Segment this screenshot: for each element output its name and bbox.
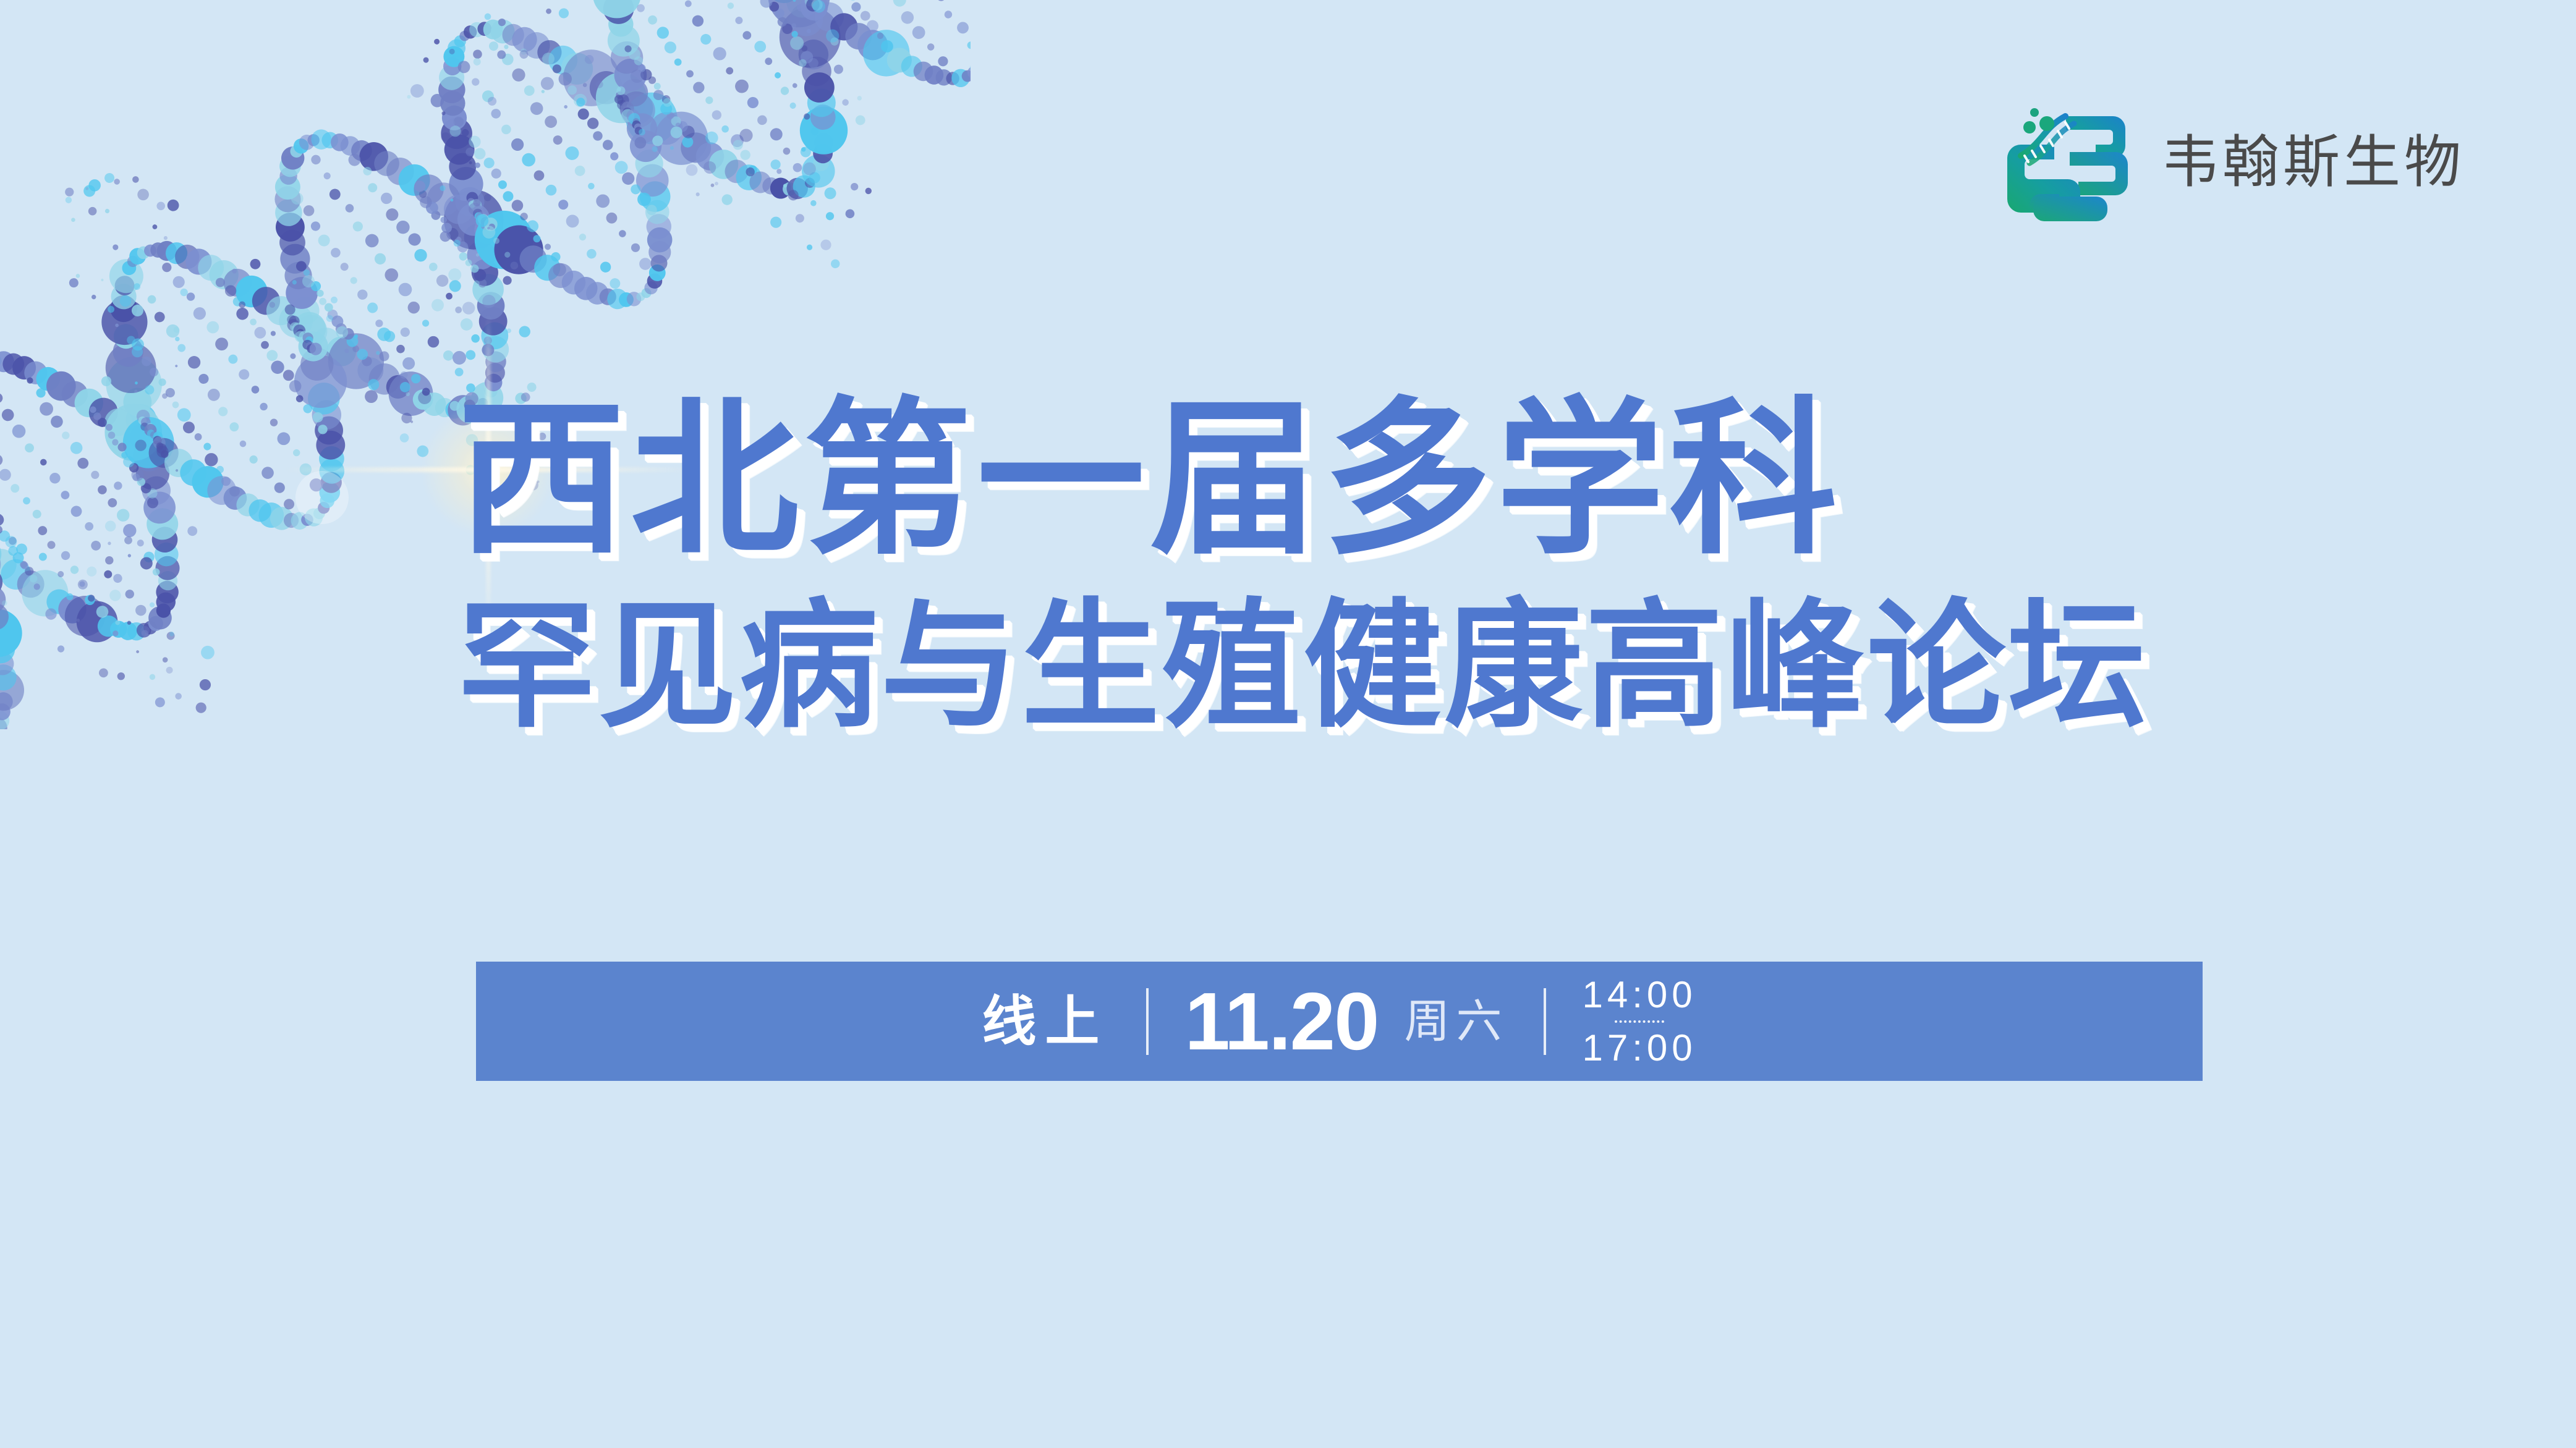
event-info-inner: 线上 11.20 周六 14:00 17:00 [982, 962, 1696, 1081]
divider-2 [1544, 988, 1546, 1055]
event-time-end: 17:00 [1582, 1029, 1696, 1067]
title-line-1: 西北第一届多学科 [457, 396, 2238, 564]
event-time-range: 14:00 17:00 [1582, 976, 1696, 1067]
event-info-bar: 线上 11.20 周六 14:00 17:00 [476, 962, 2203, 1081]
title-line-2: 罕见病与生殖健康高峰论坛 [457, 597, 2238, 735]
dna-molecule-logo-icon [1985, 99, 2140, 226]
brand-logo: 韦翰斯生物 [1985, 99, 2465, 226]
divider-1 [1146, 988, 1149, 1055]
page-title: 西北第一届多学科 罕见病与生殖健康高峰论坛 [457, 396, 2238, 735]
event-weekday: 周六 [1404, 999, 1508, 1044]
event-mode-label: 线上 [982, 994, 1110, 1049]
brand-name: 韦翰斯生物 [2162, 134, 2465, 191]
event-poster: 韦翰斯生物 西北第一届多学科 罕见病与生殖健康高峰论坛 线上 11.20 周六 … [0, 0, 2576, 1448]
event-time-start: 14:00 [1582, 976, 1696, 1014]
ghost-bubble-decor [295, 471, 349, 524]
event-date: 11.20 [1184, 981, 1378, 1062]
time-range-separator [1615, 1020, 1664, 1023]
